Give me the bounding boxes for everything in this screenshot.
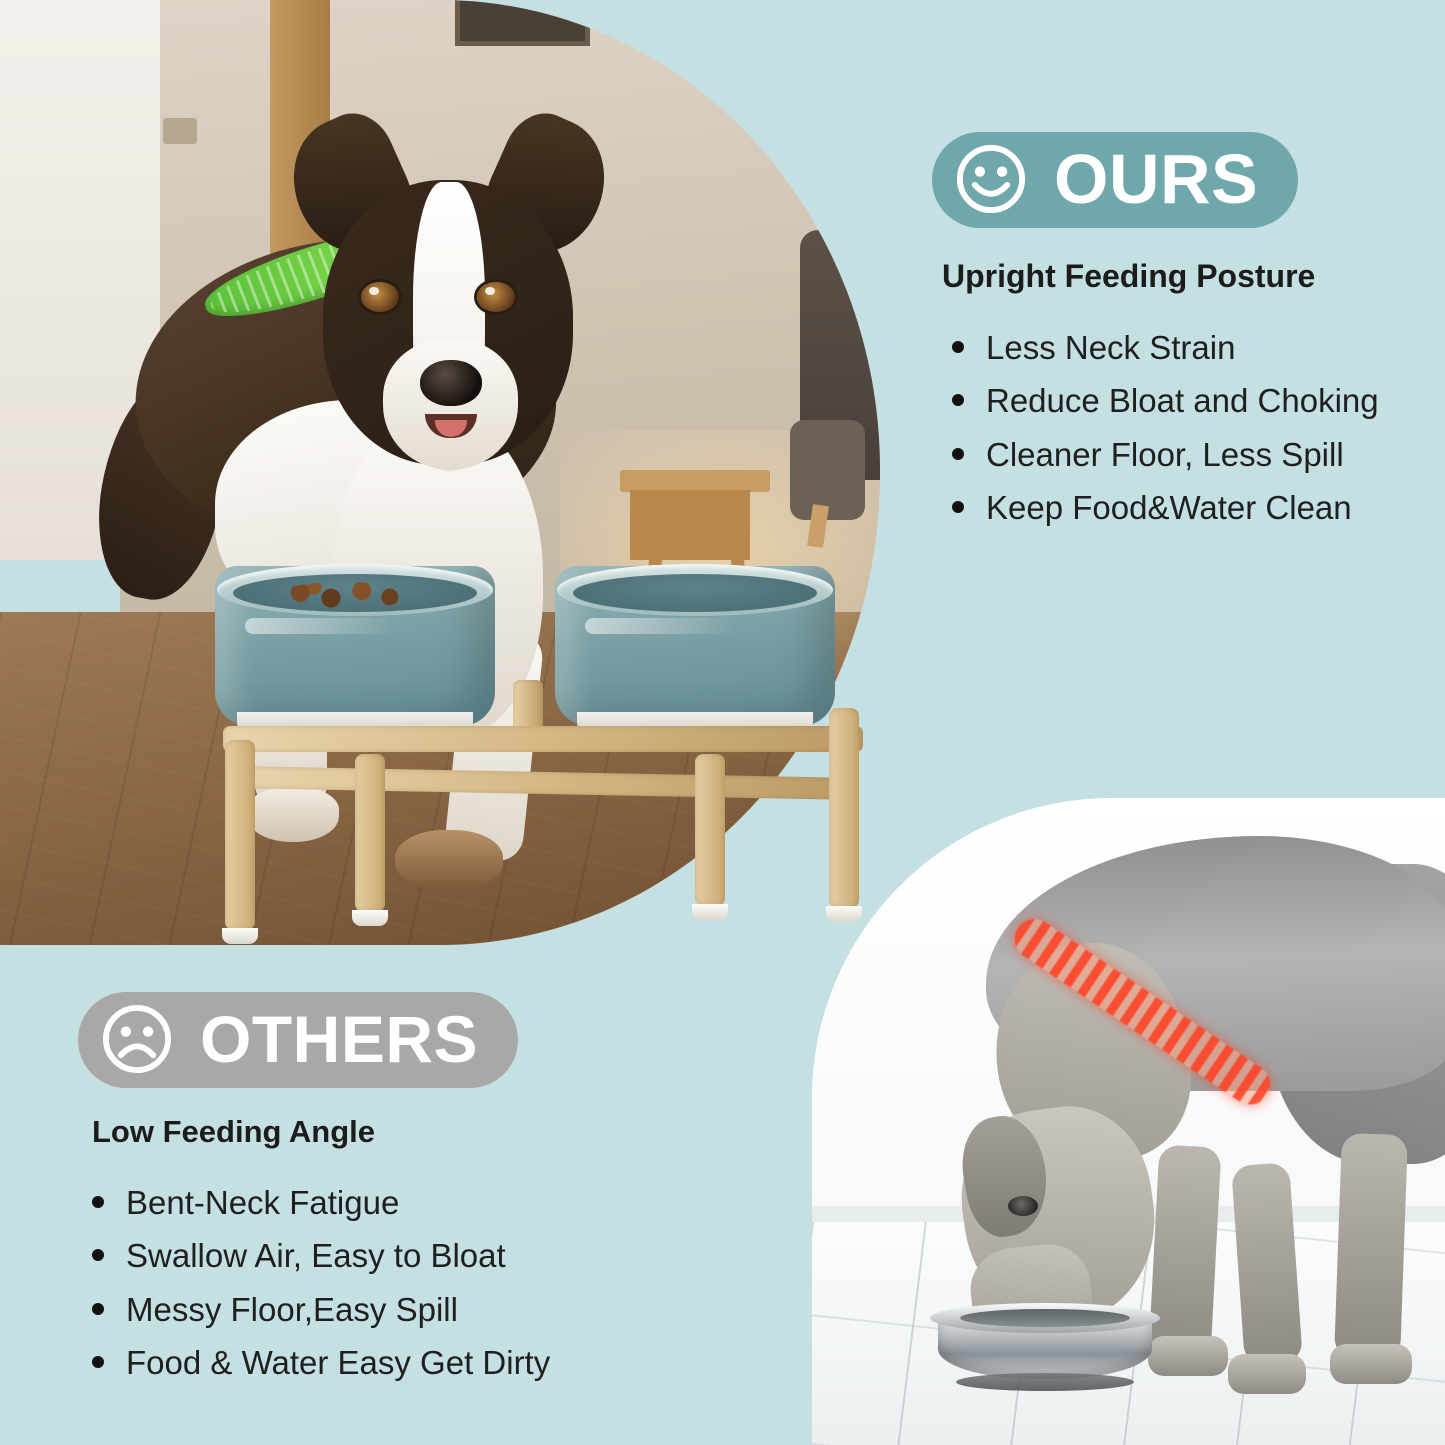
rubber-foot-4 xyxy=(826,906,862,922)
bamboo-leg-2 xyxy=(355,754,385,912)
ours-panel: OURS Upright Feeding Posture Less Neck S… xyxy=(932,132,1432,535)
list-item: Keep Food&Water Clean xyxy=(952,481,1432,534)
food-bowl-highlight xyxy=(245,618,395,634)
list-item: Reduce Bloat and Choking xyxy=(952,374,1432,427)
grayscale-dog-eye xyxy=(1008,1196,1038,1216)
dog-eye-right xyxy=(477,282,515,312)
ours-badge: OURS xyxy=(932,132,1298,228)
bullet-dot-icon xyxy=(92,1303,104,1315)
bamboo-top-rail xyxy=(223,726,863,752)
dog-nose xyxy=(420,360,482,406)
list-item: Food & Water Easy Get Dirty xyxy=(92,1336,678,1389)
water-bowl-highlight xyxy=(585,618,735,634)
water-bowl-interior xyxy=(573,574,817,612)
list-item: Swallow Air, Easy to Bloat xyxy=(92,1229,678,1282)
water-bowl xyxy=(555,566,835,726)
rubber-foot-3 xyxy=(692,904,728,920)
ours-benefit-list: Less Neck Strain Reduce Bloat and Chokin… xyxy=(952,321,1432,535)
bamboo-leg-4 xyxy=(829,708,859,908)
grayscale-dog-front-leg-right xyxy=(1231,1162,1303,1366)
ours-subhead: Upright Feeding Posture xyxy=(942,258,1432,295)
others-comparison-photo xyxy=(812,798,1445,1445)
steel-bowl-interior xyxy=(960,1309,1130,1327)
bullet-dot-icon xyxy=(952,501,964,513)
sad-face-icon xyxy=(100,1002,174,1076)
list-item: Less Neck Strain xyxy=(952,321,1432,374)
kibble-food xyxy=(275,582,415,608)
smiley-face-icon xyxy=(954,142,1028,216)
infographic-stage: OURS Upright Feeding Posture Less Neck S… xyxy=(0,0,1445,1445)
others-badge: OTHERS xyxy=(78,992,518,1088)
others-bullet-text: Messy Floor,Easy Spill xyxy=(126,1283,458,1336)
ours-bullet-text: Less Neck Strain xyxy=(986,321,1235,374)
bullet-dot-icon xyxy=(952,394,964,406)
elevated-double-bowl-stand xyxy=(215,558,865,933)
others-badge-label: OTHERS xyxy=(200,1006,478,1072)
others-bullet-text: Bent-Neck Fatigue xyxy=(126,1176,399,1229)
food-bowl xyxy=(215,566,495,726)
sofa-arm xyxy=(790,420,865,520)
bullet-dot-icon xyxy=(92,1196,104,1208)
dog-eye-left xyxy=(361,282,399,312)
bamboo-lower-rail xyxy=(239,766,851,800)
grayscale-dog-paw-1 xyxy=(1148,1336,1228,1376)
grayscale-dog-paw-3 xyxy=(1330,1344,1412,1384)
ours-bullet-text: Keep Food&Water Clean xyxy=(986,481,1352,534)
rubber-foot-1 xyxy=(222,928,258,944)
ours-bullet-text: Reduce Bloat and Choking xyxy=(986,374,1379,427)
grayscale-dog-bending xyxy=(868,816,1445,1376)
rubber-foot-2 xyxy=(352,910,388,926)
ours-bullet-text: Cleaner Floor, Less Spill xyxy=(986,428,1344,481)
steel-bowl-base xyxy=(956,1373,1134,1391)
grayscale-dog-paw-2 xyxy=(1228,1354,1306,1394)
others-panel: OTHERS Low Feeding Angle Bent-Neck Fatig… xyxy=(78,992,678,1390)
others-bullet-text: Food & Water Easy Get Dirty xyxy=(126,1336,550,1389)
list-item: Bent-Neck Fatigue xyxy=(92,1176,678,1229)
grayscale-dog-back-leg xyxy=(1334,1133,1408,1360)
list-item: Messy Floor,Easy Spill xyxy=(92,1283,678,1336)
others-bullet-text: Swallow Air, Easy to Bloat xyxy=(126,1229,506,1282)
wall-picture-frame xyxy=(455,0,590,46)
bullet-dot-icon xyxy=(952,341,964,353)
bamboo-leg-3 xyxy=(695,754,725,906)
bullet-dot-icon xyxy=(952,448,964,460)
bamboo-leg-1 xyxy=(225,740,255,930)
stainless-steel-floor-bowl xyxy=(930,1303,1160,1395)
list-item: Cleaner Floor, Less Spill xyxy=(952,428,1432,481)
bullet-dot-icon xyxy=(92,1356,104,1368)
bullet-dot-icon xyxy=(92,1249,104,1261)
others-drawback-list: Bent-Neck Fatigue Swallow Air, Easy to B… xyxy=(92,1176,678,1390)
ours-badge-label: OURS xyxy=(1054,144,1258,214)
others-subhead: Low Feeding Angle xyxy=(92,1114,678,1150)
